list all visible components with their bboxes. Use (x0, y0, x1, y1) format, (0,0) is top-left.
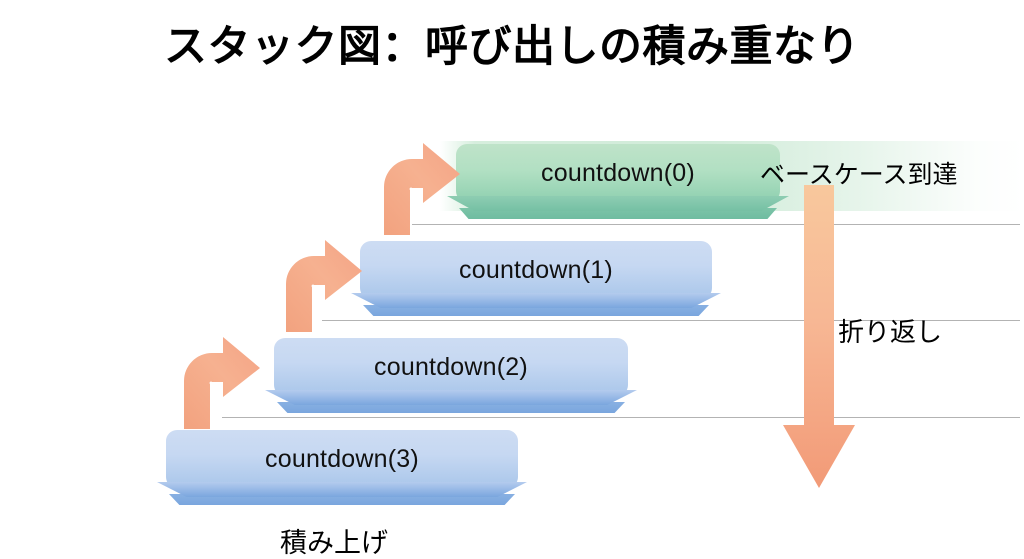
stack-frame-label: countdown(0) (456, 144, 780, 202)
stack-frame-countdown-3[interactable]: countdown(3) (166, 430, 518, 506)
push-annotation: 積み上げ (280, 521, 388, 559)
stack-frame-label: countdown(3) (166, 430, 518, 488)
stack-frame-countdown-1[interactable]: countdown(1) (360, 241, 712, 317)
push-arrow-icon-1 (376, 143, 462, 235)
base-case-annotation: ベースケース到達 (760, 155, 958, 191)
unwind-annotation: 折り返し (838, 312, 942, 349)
separator-line-2 (222, 417, 1020, 418)
stack-frame-countdown-0[interactable]: countdown(0) (456, 144, 780, 220)
push-arrow-icon-2 (278, 240, 364, 332)
stack-frame-label: countdown(2) (274, 338, 628, 396)
stack-frame-countdown-2[interactable]: countdown(2) (274, 338, 628, 414)
page-title: スタック図：呼び出しの積み重なり (0, 22, 1024, 74)
stack-frame-label: countdown(1) (360, 241, 712, 299)
stack-diagram-canvas: スタック図：呼び出しの積み重なり countdown(0) countdown(… (0, 0, 1024, 559)
separator-line-0 (412, 224, 1020, 225)
push-arrow-icon-3 (176, 337, 262, 429)
